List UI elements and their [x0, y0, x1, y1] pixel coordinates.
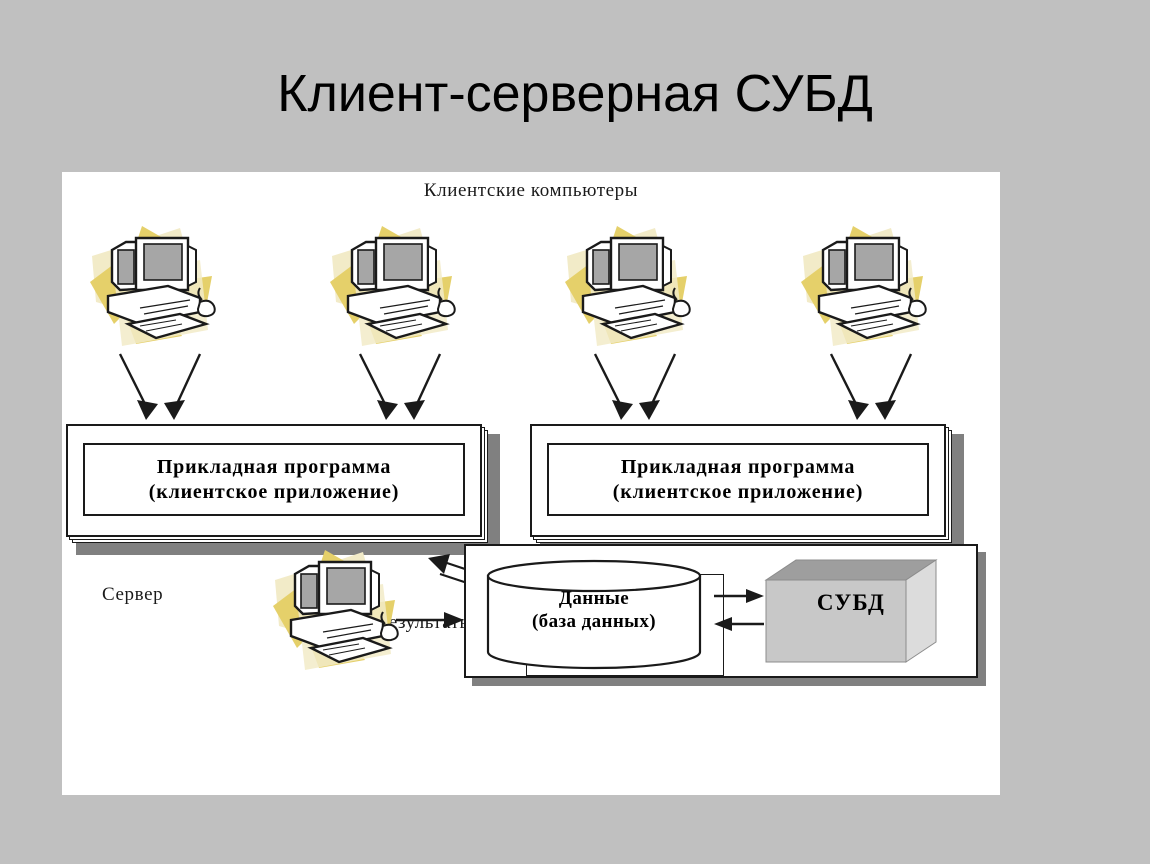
app-program-box-1: Прикладная программа (клиентское приложе… — [66, 424, 500, 555]
arrow-server-to-db — [394, 608, 470, 632]
server-box-face: Данные (база данных) СУБД — [464, 544, 978, 678]
app-box-line1: Прикладная программа — [157, 455, 391, 479]
client-arrows-4 — [795, 350, 945, 428]
client-arrows-1 — [84, 350, 234, 428]
computer-icon — [324, 220, 474, 360]
dbms-label: СУБД — [766, 590, 936, 616]
diagram-panel: Клиентские компьютеры — [62, 172, 1000, 795]
arrow-pair-icon — [795, 350, 945, 428]
server-label: Сервер — [102, 584, 163, 606]
server-container-box: Данные (база данных) СУБД — [464, 544, 986, 686]
client-computer-1 — [84, 220, 234, 360]
client-arrows-3 — [559, 350, 709, 428]
client-computer-4 — [795, 220, 945, 360]
app-box-line2: (клиентское приложение) — [613, 480, 863, 504]
page-title: Клиент-серверная СУБД — [0, 64, 1150, 124]
database-line2: (база данных) — [486, 611, 702, 634]
box-layer-front: Прикладная программа (клиентское приложе… — [530, 424, 946, 537]
client-arrows-2 — [324, 350, 474, 428]
arrows-db-dbms — [712, 586, 768, 636]
arrow-pair-icon — [84, 350, 234, 428]
client-computer-2 — [324, 220, 474, 360]
client-computer-3 — [559, 220, 709, 360]
computer-icon — [795, 220, 945, 360]
arrow-pair-icon — [559, 350, 709, 428]
arrow-pair-icon — [324, 350, 474, 428]
computer-icon — [559, 220, 709, 360]
database-line1: Данные — [486, 588, 702, 611]
app-box-line1: Прикладная программа — [621, 455, 855, 479]
app-inner-frame: Прикладная программа (клиентское приложе… — [83, 443, 465, 516]
app-box-line2: (клиентское приложение) — [149, 480, 399, 504]
box-layer-front: Прикладная программа (клиентское приложе… — [66, 424, 482, 537]
app-program-box-2: Прикладная программа (клиентское приложе… — [530, 424, 964, 555]
database-label: Данные (база данных) — [486, 588, 702, 634]
computer-icon — [84, 220, 234, 360]
app-inner-frame: Прикладная программа (клиентское приложе… — [547, 443, 929, 516]
clients-heading: Клиентские компьютеры — [62, 180, 1000, 202]
